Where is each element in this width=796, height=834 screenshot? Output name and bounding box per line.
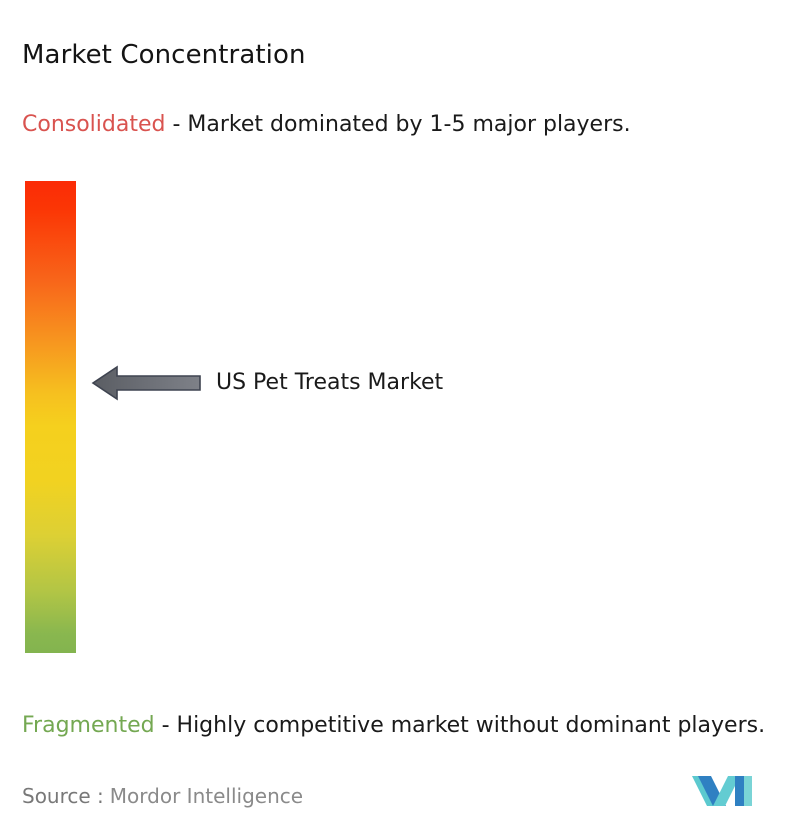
- fragmented-term: Fragmented: [22, 713, 155, 738]
- source-value: Mordor Intelligence: [110, 784, 303, 808]
- arrow-left-icon: [90, 364, 202, 402]
- page-title: Market Concentration: [22, 38, 306, 72]
- consolidated-description: Market dominated by 1-5 major players.: [187, 112, 630, 137]
- consolidated-legend: Consolidated - Market dominated by 1-5 m…: [22, 108, 774, 142]
- fragmented-legend: Fragmented - Highly competitive market w…: [22, 709, 788, 743]
- consolidated-term: Consolidated: [22, 112, 165, 137]
- mordor-intelligence-logo: [692, 770, 754, 812]
- market-concentration-scale-bar: [25, 181, 76, 653]
- source-note: Source :Mordor Intelligence: [22, 783, 303, 809]
- pointer-label: US Pet Treats Market: [216, 369, 443, 397]
- fragmented-description: Highly competitive market without domina…: [177, 713, 766, 738]
- consolidated-separator: -: [165, 112, 187, 137]
- fragmented-separator: -: [155, 713, 177, 738]
- market-pointer: US Pet Treats Market: [90, 363, 443, 403]
- source-label: Source :: [22, 784, 104, 808]
